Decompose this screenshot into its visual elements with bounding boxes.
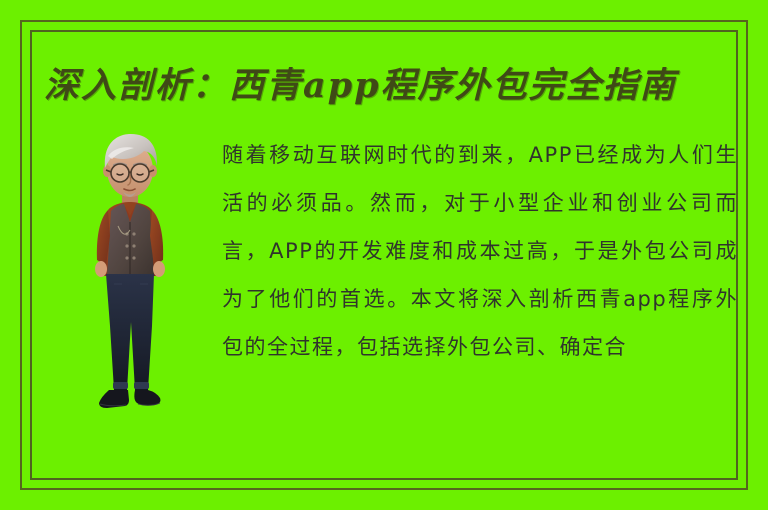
- cartoon-man-with-glasses-illustration: [78, 126, 182, 414]
- page-title: 深入剖析：西青app程序外包完全指南: [44, 60, 714, 112]
- article-body-text: 随着移动互联网时代的到来，APP已经成为人们生活的必须品。然而，对于小型企业和创…: [222, 131, 738, 421]
- poster-canvas: 深入剖析：西青app程序外包完全指南: [0, 0, 768, 510]
